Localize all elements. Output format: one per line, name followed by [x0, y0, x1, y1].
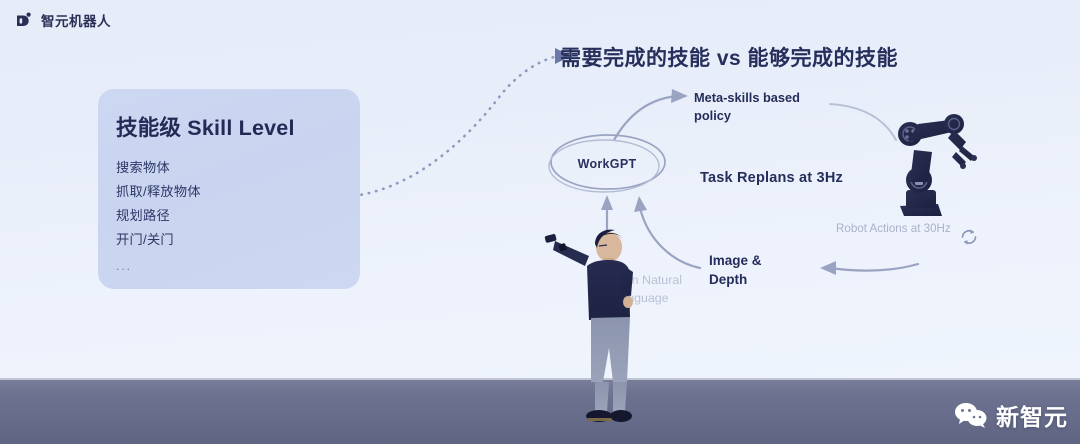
arrow-left-icon: [820, 261, 918, 275]
list-item: 规划路径: [116, 204, 360, 228]
list-item: 搜索物体: [116, 156, 360, 180]
node-workgpt-label: WorkGPT: [578, 157, 637, 171]
slide-screenshot: 智元机器人 技能级 Skill Level 搜索物体 抓取/释放物体 规划路径 …: [0, 0, 1080, 444]
node-workgpt: WorkGPT: [551, 136, 663, 192]
aglibot-d-mark-icon: [14, 10, 34, 30]
curved-arrow-right-icon: [830, 104, 896, 140]
label-meta-skills-policy: Meta-skills based policy: [694, 89, 819, 125]
brand-name: 智元机器人: [41, 10, 111, 30]
refresh-loop-icon: [958, 226, 980, 248]
list-item: 抓取/释放物体: [116, 180, 360, 204]
brand-logo: 智元机器人: [14, 10, 111, 30]
watermark: 新智元: [954, 398, 1068, 432]
label-image-depth: Image & Depth: [709, 251, 799, 289]
watermark-text: 新智元: [996, 398, 1068, 432]
wechat-icon: [954, 401, 988, 429]
skill-level-card: 技能级 Skill Level 搜索物体 抓取/释放物体 规划路径 开门/关门 …: [98, 89, 360, 289]
list-item-ellipsis: ...: [116, 252, 360, 278]
skill-card-title: 技能级 Skill Level: [116, 111, 360, 142]
robot-arm-icon: [888, 98, 992, 222]
page-title: 需要完成的技能 vs 能够完成的技能: [560, 42, 898, 72]
label-robot-actions: Robot Actions at 30Hz: [836, 221, 956, 238]
speaker-pointing-icon: [533, 222, 653, 430]
label-task-replans: Task Replans at 3Hz: [700, 170, 843, 186]
skill-card-list: 搜索物体 抓取/释放物体 规划路径 开门/关门 ...: [116, 156, 360, 278]
list-item: 开门/关门: [116, 228, 360, 252]
